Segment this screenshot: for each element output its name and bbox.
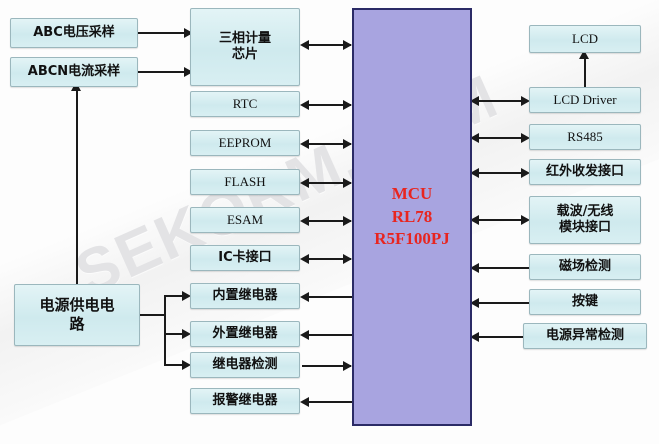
box-abcn-current-sampling: ABCN电流采样 — [10, 57, 138, 87]
power-supply-line2: 路 — [69, 315, 84, 334]
box-lcd: LCD — [529, 25, 641, 53]
box-abc-voltage-sampling: ABC电压采样 — [10, 18, 138, 48]
box-alarm-relay: 报警继电器 — [190, 388, 300, 414]
metering-chip-line1: 三相计量 — [219, 31, 271, 47]
line-mcu-rs485 — [474, 137, 528, 139]
box-mcu: MCU RL78 R5F100PJ — [352, 8, 472, 426]
arrowhead-iccard-right — [343, 254, 352, 264]
box-rtc: RTC — [190, 91, 300, 117]
line-keypad-to-mcu — [474, 302, 530, 304]
line-current-to-metering — [138, 71, 186, 73]
arrowhead-external-relay-left — [300, 330, 309, 340]
arrowhead-metering-right — [343, 40, 352, 50]
line-mcu-lcddriver — [474, 100, 528, 102]
box-rs485: RS485 — [529, 124, 641, 150]
line-voltage-to-metering — [138, 32, 186, 34]
arrowhead-internal-relay-left — [300, 292, 309, 302]
arrowhead-esam-right — [343, 216, 352, 226]
arrowhead-relay-detection-right — [343, 361, 352, 371]
box-esam: ESAM — [190, 207, 300, 233]
arrowhead-eeprom-right — [343, 139, 352, 149]
arrowhead-eeprom-left — [300, 139, 309, 149]
box-ic-card-interface: IC卡接口 — [190, 245, 300, 271]
box-infrared-interface: 红外收发接口 — [529, 159, 641, 185]
box-power-supply-circuit: 电源供电电 路 — [14, 284, 140, 346]
box-eeprom: EEPROM — [190, 130, 300, 156]
box-internal-relay: 内置继电器 — [190, 283, 300, 309]
line-power-to-relay-detection — [164, 364, 184, 366]
box-carrier-wireless-module-interface: 载波/无线 模块接口 — [529, 196, 641, 244]
box-power-abnormality-detection: 电源异常检测 — [523, 323, 647, 349]
arrowhead-iccard-left — [300, 254, 309, 264]
power-supply-line1: 电源供电电 — [39, 296, 114, 315]
line-power-bus-stub — [139, 314, 165, 316]
arrowhead-rtc-left — [300, 100, 309, 110]
box-relay-detection: 继电器检测 — [190, 352, 300, 378]
line-power-bus-vertical — [164, 295, 166, 366]
box-three-phase-metering-chip: 三相计量 芯片 — [190, 8, 300, 86]
box-external-relay: 外置继电器 — [190, 321, 300, 347]
carrier-line2: 模块接口 — [559, 220, 611, 236]
arrowhead-esam-left — [300, 216, 309, 226]
mcu-line1: MCU — [392, 183, 433, 206]
mcu-line2: RL78 — [392, 206, 433, 229]
line-external-relay-mcu — [307, 334, 352, 336]
line-power-to-internal-relay — [164, 295, 184, 297]
line-mcu-infrared — [474, 172, 528, 174]
line-mcu-carrier — [474, 219, 528, 221]
line-magnetic-to-mcu — [474, 267, 530, 269]
line-power-abnormality-to-mcu — [474, 336, 524, 338]
carrier-line1: 载波/无线 — [557, 204, 614, 220]
box-magnetic-field-detection: 磁场检测 — [529, 254, 641, 280]
arrowhead-rtc-right — [343, 100, 352, 110]
arrowhead-alarm-relay-left — [300, 397, 309, 407]
line-internal-relay-mcu — [307, 296, 352, 298]
arrowhead-flash-right — [343, 178, 352, 188]
block-diagram-canvas: SEKORM.COM ABC电压采样 ABCN电流采样 三相计量 芯片 MCU … — [0, 0, 659, 444]
arrowhead-flash-left — [300, 178, 309, 188]
line-power-to-external-relay — [164, 333, 184, 335]
box-flash: FLASH — [190, 169, 300, 195]
box-keypad: 按键 — [529, 289, 641, 315]
box-lcd-driver: LCD Driver — [529, 87, 641, 113]
line-power-to-current-sampling — [76, 87, 78, 285]
line-lcddriver-to-lcd — [584, 58, 586, 87]
line-alarm-relay-mcu — [307, 401, 352, 403]
metering-chip-line2: 芯片 — [232, 47, 258, 63]
arrowhead-metering-left — [300, 40, 309, 50]
mcu-line3: R5F100PJ — [374, 228, 450, 251]
